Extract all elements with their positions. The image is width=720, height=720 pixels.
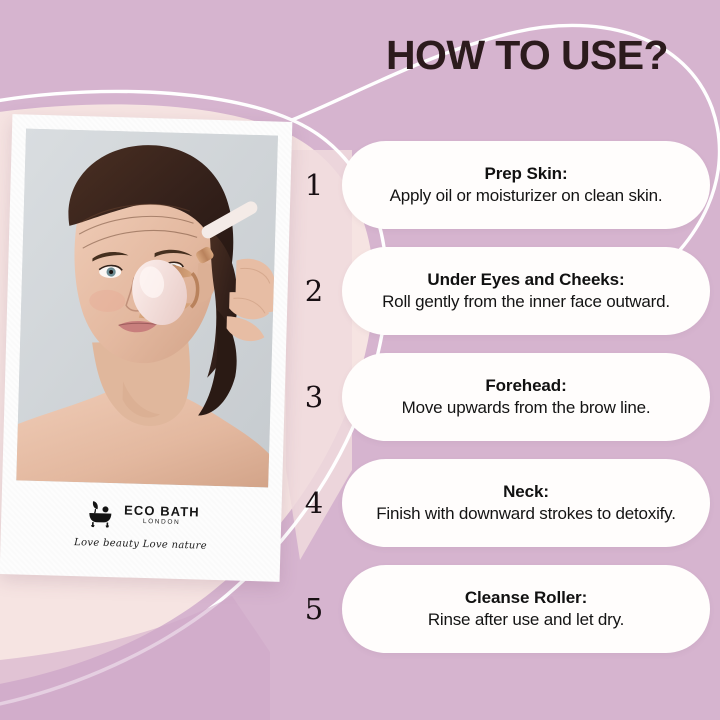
step-number: 1	[286, 171, 342, 200]
step-title: Cleanse Roller:	[465, 588, 587, 609]
steps-list: 1 Prep Skin: Apply oil or moisturizer on…	[286, 132, 710, 662]
step-body: Finish with downward strokes to detoxify…	[376, 504, 676, 525]
step-body: Apply oil or moisturizer on clean skin.	[390, 186, 663, 207]
polaroid-photo-card: ECO BATH LONDON Love beauty Love nature	[0, 114, 292, 582]
page-title: HOW TO USE?	[352, 34, 702, 77]
step-number: 5	[286, 595, 342, 624]
step-title: Neck:	[503, 482, 549, 503]
step-body: Rinse after use and let dry.	[428, 610, 624, 631]
bathtub-leaf-icon	[83, 498, 118, 529]
step-title: Prep Skin:	[484, 164, 567, 185]
step-item: 5 Cleanse Roller: Rinse after use and le…	[286, 556, 710, 662]
step-item: 1 Prep Skin: Apply oil or moisturizer on…	[286, 132, 710, 238]
infographic-canvas: ECO BATH LONDON Love beauty Love nature …	[0, 0, 720, 720]
photo-illustration	[16, 129, 278, 488]
brand-name: ECO BATH	[124, 504, 200, 519]
step-number: 4	[286, 489, 342, 518]
step-card[interactable]: Neck: Finish with downward strokes to de…	[342, 459, 710, 547]
step-item: 4 Neck: Finish with downward strokes to …	[286, 450, 710, 556]
step-title: Under Eyes and Cheeks:	[427, 270, 624, 291]
brand-tagline: Love beauty Love nature	[74, 537, 207, 552]
product-photo	[16, 129, 278, 488]
brand-subtitle: LONDON	[143, 519, 181, 527]
step-card[interactable]: Under Eyes and Cheeks: Roll gently from …	[342, 247, 710, 335]
step-item: 3 Forehead: Move upwards from the brow l…	[286, 344, 710, 450]
step-item: 2 Under Eyes and Cheeks: Roll gently fro…	[286, 238, 710, 344]
step-number: 3	[286, 383, 342, 412]
step-card[interactable]: Forehead: Move upwards from the brow lin…	[342, 353, 710, 441]
brand-block: ECO BATH LONDON Love beauty Love nature	[14, 480, 268, 569]
step-body: Roll gently from the inner face outward.	[382, 292, 670, 313]
step-title: Forehead:	[485, 376, 566, 397]
step-body: Move upwards from the brow line.	[402, 398, 651, 419]
step-card[interactable]: Cleanse Roller: Rinse after use and let …	[342, 565, 710, 653]
step-number: 2	[286, 277, 342, 306]
step-card[interactable]: Prep Skin: Apply oil or moisturizer on c…	[342, 141, 710, 229]
